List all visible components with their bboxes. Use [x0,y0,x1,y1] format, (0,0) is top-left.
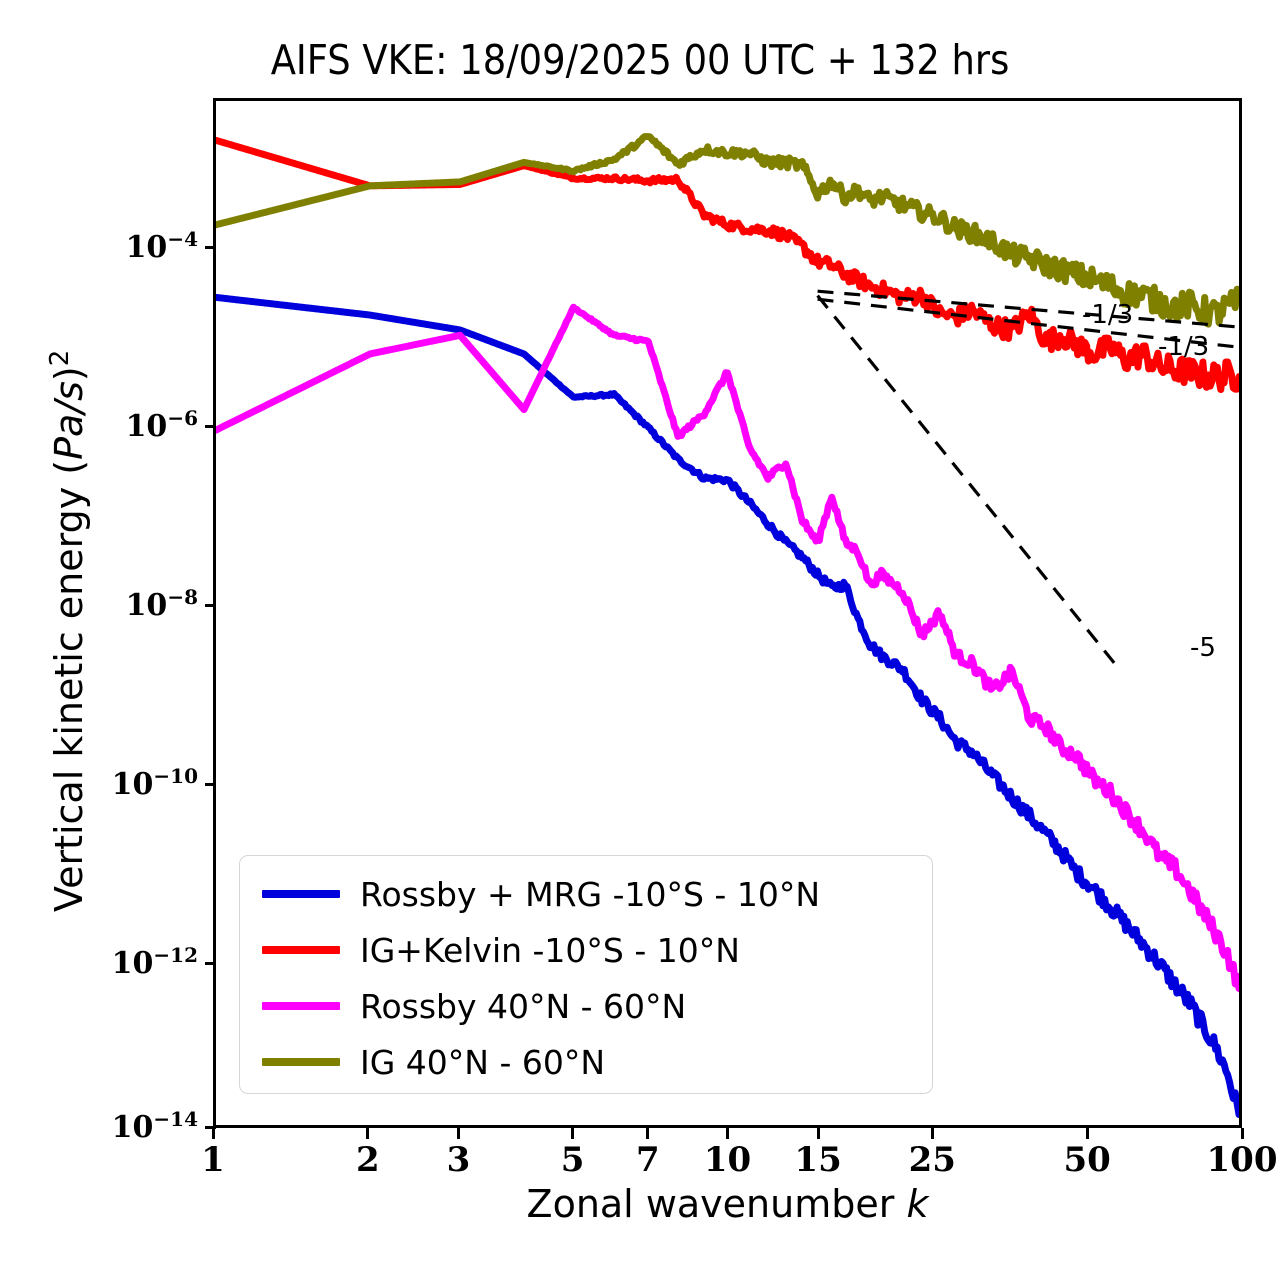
xtick-mark [1086,1128,1089,1139]
legend: Rossby + MRG -10°S - 10°N IG+Kelvin -10°… [239,855,933,1094]
legend-label-rossby-mid: Rossby 40°N - 60°N [360,990,686,1023]
ytick-label-5: 10−14 [112,1107,198,1145]
xtick-label: 7 [636,1140,660,1180]
legend-label-rossby-mrg: Rossby + MRG -10°S - 10°N [360,878,820,911]
xtick-label: 25 [909,1140,956,1180]
chart-page: AIFS VKE: 18/09/2025 00 UTC + 132 hrs 10… [0,0,1280,1288]
xtick-mark [212,1128,215,1139]
xtick-label: 50 [1063,1140,1110,1180]
legend-swatch-ig-mid [262,1058,340,1066]
xtick-label: 15 [794,1140,841,1180]
xtick-label: 1 [201,1140,225,1180]
x-axis-label: Zonal wavenumber k [213,1182,1242,1226]
xtick-label: 100 [1207,1140,1278,1180]
legend-label-ig-mid: IG 40°N - 60°N [360,1046,605,1079]
reference-line [818,296,1115,663]
y-axis-label: Vertical kinetic energy (Pa/s)2 [45,161,91,1101]
xtick-mark [726,1128,729,1139]
legend-swatch-rossby-mrg [262,890,340,898]
xtick-mark [817,1128,820,1139]
xtick-mark [366,1128,369,1139]
ytick-label-2: 10−8 [126,585,198,623]
legend-item-1[interactable]: IG+Kelvin -10°S - 10°N [262,924,740,976]
ytick-label-4: 10−12 [112,943,198,981]
legend-item-3[interactable]: IG 40°N - 60°N [262,1036,605,1088]
xtick-label: 2 [356,1140,380,1180]
legend-swatch-rossby-mid [262,1002,340,1010]
xtick-label: 3 [447,1140,471,1180]
legend-swatch-ig-kelvin [262,946,340,954]
ytick-label-0: 10−4 [126,227,198,265]
legend-item-0[interactable]: Rossby + MRG -10°S - 10°N [262,868,820,920]
slope-label-upper: -1/3 [1082,300,1133,330]
legend-label-ig-kelvin: IG+Kelvin -10°S - 10°N [360,934,740,967]
xtick-label: 5 [561,1140,585,1180]
xtick-mark [646,1128,649,1139]
ytick-label-1: 10−6 [126,406,198,444]
legend-item-2[interactable]: Rossby 40°N - 60°N [262,980,686,1032]
xtick-label: 10 [704,1140,751,1180]
page-title: AIFS VKE: 18/09/2025 00 UTC + 132 hrs [0,36,1280,84]
ytick-label-3: 10−10 [112,764,198,802]
xtick-mark [1241,1128,1244,1139]
xtick-mark [457,1128,460,1139]
slope-label-steep: -5 [1190,633,1216,663]
xtick-mark [571,1128,574,1139]
xtick-mark [931,1128,934,1139]
slope-label-lower: -1/3 [1158,332,1209,362]
